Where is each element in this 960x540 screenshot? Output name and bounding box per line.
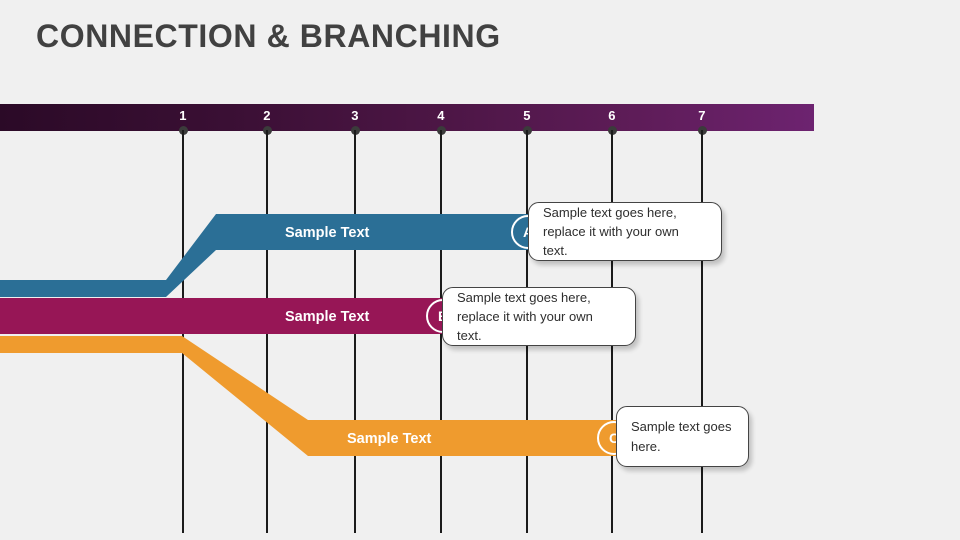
timeline-grid-line-1 — [182, 130, 183, 533]
callout-box-c[interactable]: Sample text goes here. — [616, 406, 749, 467]
timeline-tick-label-2: 2 — [247, 108, 287, 123]
timeline-tick-label-5: 5 — [507, 108, 547, 123]
callout-text-c: Sample text goes here. — [617, 417, 748, 455]
timeline-grid-line-2 — [266, 130, 267, 533]
timeline-tick-label-4: 4 — [421, 108, 461, 123]
ribbon-label-a: Sample Text — [285, 225, 369, 241]
timeline-tick-label-6: 6 — [592, 108, 632, 123]
ribbon-magenta — [0, 298, 447, 334]
timeline-grid-line-3 — [354, 130, 355, 533]
callout-text-a: Sample text goes here, replace it with y… — [529, 203, 721, 261]
callout-box-a[interactable]: Sample text goes here, replace it with y… — [528, 202, 722, 261]
timeline-tick-label-3: 3 — [335, 108, 375, 123]
ribbon-label-b: Sample Text — [285, 309, 369, 325]
timeline-grid-line-7 — [701, 130, 702, 533]
timeline-tick-label-7: 7 — [682, 108, 722, 123]
timeline-tick-label-1: 1 — [163, 108, 203, 123]
slide-canvas: CONNECTION & BRANCHING 1234567 Sample Te… — [0, 0, 960, 540]
page-title: CONNECTION & BRANCHING — [36, 18, 501, 55]
ribbon-label-c: Sample Text — [347, 431, 431, 447]
branch-ribbons — [0, 0, 960, 540]
ribbon-orange — [0, 336, 617, 456]
callout-text-b: Sample text goes here, replace it with y… — [443, 288, 635, 346]
callout-box-b[interactable]: Sample text goes here, replace it with y… — [442, 287, 636, 346]
